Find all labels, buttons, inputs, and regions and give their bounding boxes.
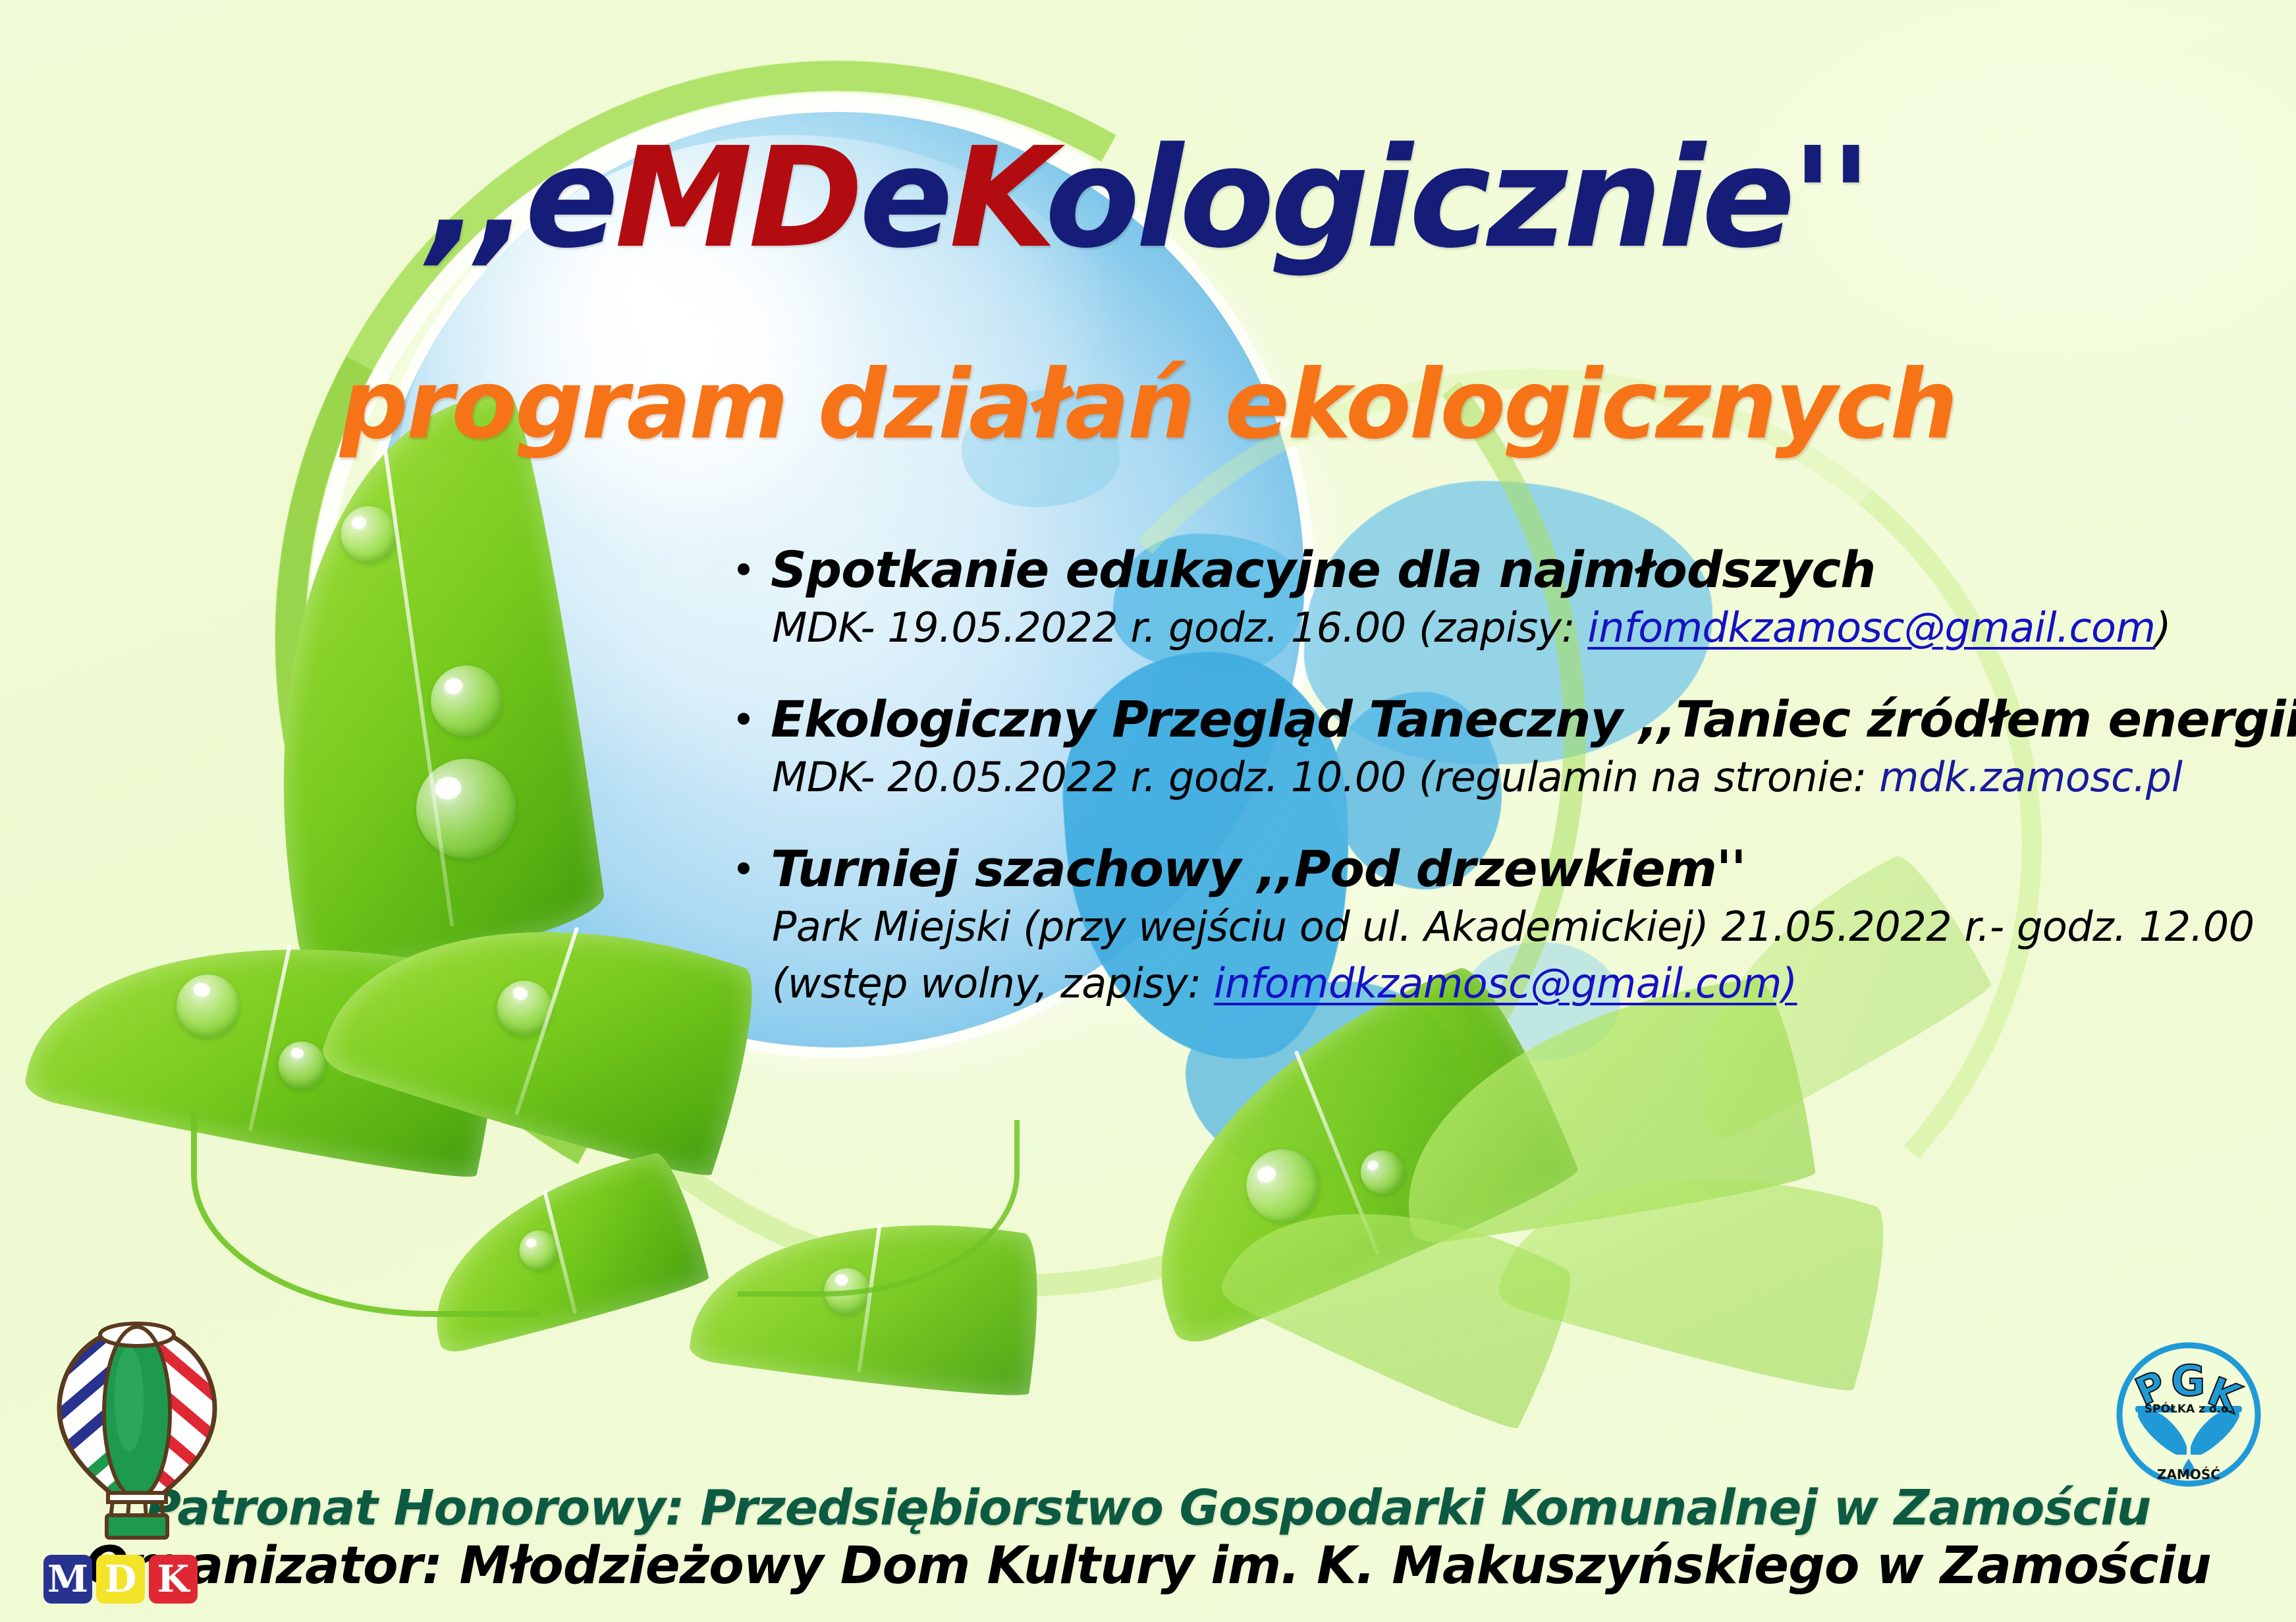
poster-canvas: ,,eMDeKologicznie'' program działań ekol… bbox=[0, 0, 2296, 1622]
pgk-logo: P G K SPÓŁKA z o.o. ZAMOŚĆ bbox=[2113, 1339, 2264, 1490]
title-part-1: ,,e bbox=[427, 117, 615, 279]
bullet-icon bbox=[738, 862, 750, 874]
patronat-row: Patronat Honorowy: Przedsiębiorstwo Gosp… bbox=[0, 1480, 2296, 1536]
program-item: Ekologiczny Przegląd Taneczny ,,Taniec ź… bbox=[738, 690, 2233, 805]
bullet-icon bbox=[738, 563, 750, 575]
program-list: Spotkanie edukacyjne dla najmłodszych MD… bbox=[738, 540, 2233, 1011]
program-item-title: Ekologiczny Przegląd Taneczny ,,Taniec ź… bbox=[771, 690, 2296, 749]
website-link[interactable]: mdk.zamosc.pl bbox=[1879, 753, 2182, 801]
bullet-icon bbox=[738, 713, 750, 725]
pgk-subtitle: SPÓŁKA z o.o. bbox=[2145, 1401, 2233, 1416]
program-item-title: Spotkanie edukacyjne dla najmłodszych bbox=[771, 540, 1875, 600]
program-item-detail-prefix: MDK- 20.05.2022 r. godz. 10.00 (regulami… bbox=[772, 753, 1879, 801]
program-item-detail-suffix: ) bbox=[2155, 603, 2171, 652]
program-item-detail-prefix-2: (wstęp wolny, zapisy: bbox=[772, 959, 1214, 1007]
mdk-logo: M D K bbox=[38, 1320, 223, 1604]
poster-subtitle: program działań ekologicznych bbox=[0, 349, 2296, 461]
pgk-logo-icon: P G K SPÓŁKA z o.o. ZAMOŚĆ bbox=[2113, 1339, 2264, 1490]
email-link[interactable]: infomdkzamosc@gmail.com) bbox=[1214, 959, 1797, 1007]
organizator-row: Organizator: Młodzieżowy Dom Kultury im.… bbox=[0, 1536, 2296, 1596]
mdk-letter-blocks: M D K bbox=[43, 1555, 198, 1604]
program-item: Spotkanie edukacyjne dla najmłodszych MD… bbox=[738, 540, 2233, 656]
mdk-letter-m: M bbox=[43, 1555, 92, 1604]
mdk-letter-k: K bbox=[149, 1555, 198, 1604]
program-item-details: MDK- 19.05.2022 r. godz. 16.00 (zapisy: … bbox=[772, 600, 2233, 656]
title-part-3: e bbox=[860, 117, 949, 279]
program-item-title: Turniej szachowy ,,Pod drzewkiem'' bbox=[771, 839, 1745, 899]
title-part-4: K bbox=[949, 117, 1045, 279]
patronat-text: Patronat Honorowy: Przedsiębiorstwo Gosp… bbox=[146, 1480, 2151, 1536]
email-link[interactable]: infomdkzamosc@gmail.com bbox=[1587, 603, 2155, 652]
program-item-title-row: Turniej szachowy ,,Pod drzewkiem'' bbox=[738, 839, 2233, 899]
title-part-2: MD bbox=[615, 117, 859, 279]
organizator-text: Organizator: Młodzieżowy Dom Kultury im.… bbox=[85, 1536, 2211, 1596]
program-item-title-row: Ekologiczny Przegląd Taneczny ,,Taniec ź… bbox=[738, 690, 2233, 749]
svg-text:G: G bbox=[2171, 1357, 2206, 1406]
pgk-city: ZAMOŚĆ bbox=[2157, 1467, 2220, 1482]
program-item-details-line1: Park Miejski (przy wejściu od ul. Akadem… bbox=[772, 899, 2233, 955]
mdk-letter-d: D bbox=[96, 1555, 145, 1604]
hot-air-balloon-icon bbox=[45, 1320, 229, 1544]
poster-content: ,,eMDeKologicznie'' program działań ekol… bbox=[0, 0, 2296, 1622]
program-item-detail-prefix: MDK- 19.05.2022 r. godz. 16.00 (zapisy: bbox=[772, 603, 1587, 652]
program-item-details: MDK- 20.05.2022 r. godz. 10.00 (regulami… bbox=[772, 749, 2233, 806]
poster-title: ,,eMDeKologicznie'' bbox=[0, 126, 2296, 271]
program-item: Turniej szachowy ,,Pod drzewkiem'' Park … bbox=[738, 839, 2233, 1011]
poster-footer: Patronat Honorowy: Przedsiębiorstwo Gosp… bbox=[0, 1480, 2296, 1596]
title-part-5: ologicznie'' bbox=[1045, 117, 1868, 279]
program-item-title-row: Spotkanie edukacyjne dla najmłodszych bbox=[738, 540, 2233, 600]
program-item-details-line2: (wstęp wolny, zapisy: infomdkzamosc@gmai… bbox=[772, 955, 2233, 1012]
